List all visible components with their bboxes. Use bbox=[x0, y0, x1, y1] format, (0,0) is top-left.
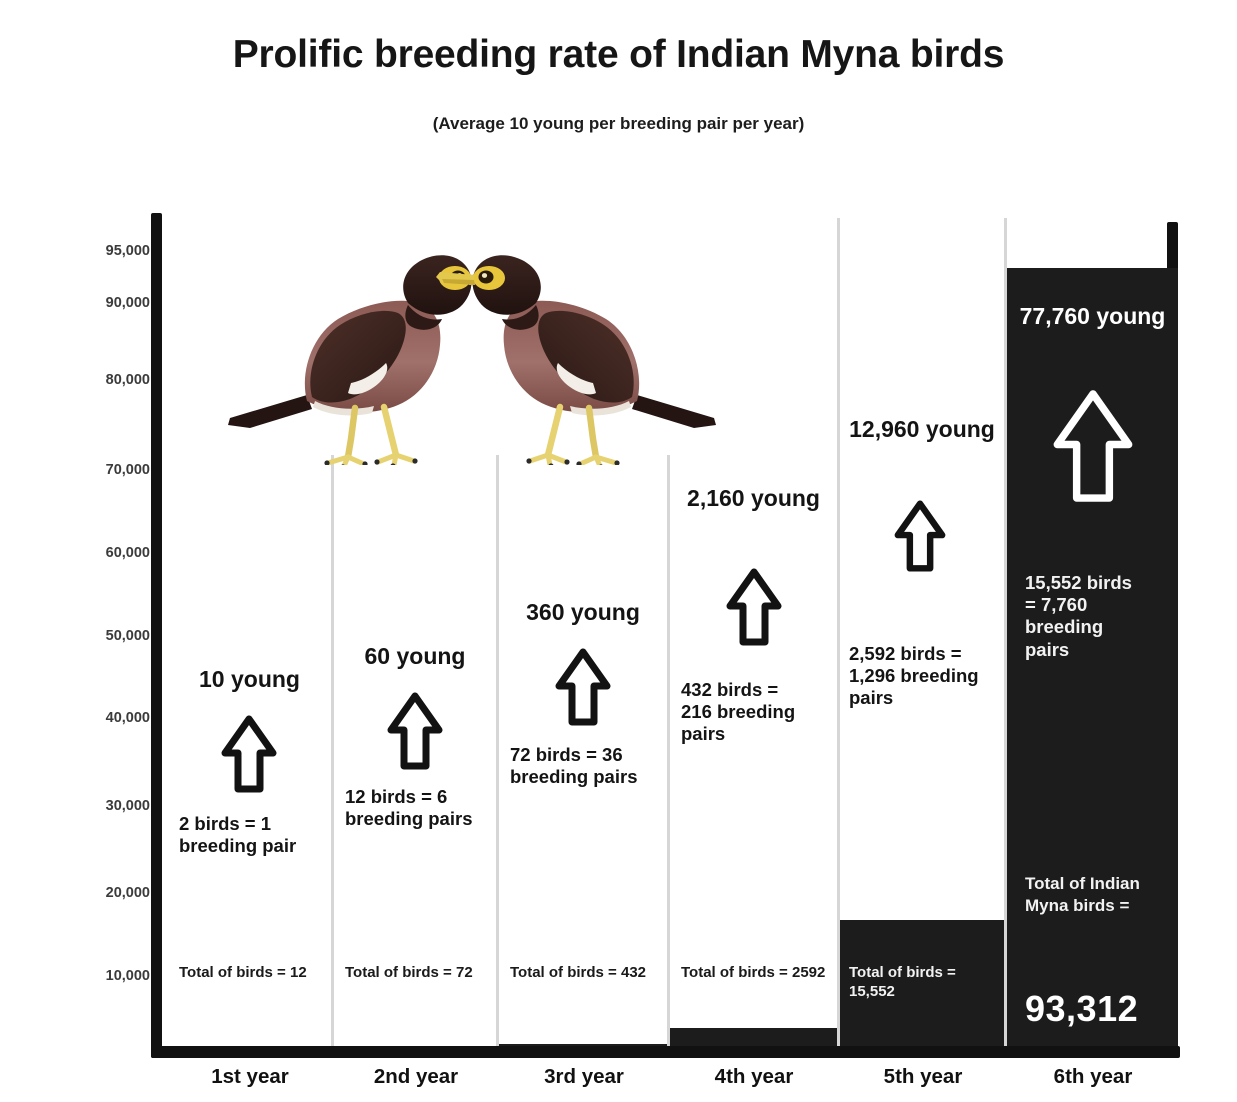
detail-year2: 12 birds = 6 breeding pairs bbox=[345, 786, 495, 830]
chart-title: Prolific breeding rate of Indian Myna bi… bbox=[0, 33, 1237, 77]
up-arrow-icon bbox=[1051, 388, 1135, 504]
total-year1: Total of birds = 12 bbox=[179, 964, 331, 983]
x-label-year6: 6th year bbox=[1006, 1065, 1180, 1089]
x-label-year2: 2nd year bbox=[334, 1065, 498, 1089]
detail-year1: 2 birds = 1 breeding pair bbox=[179, 813, 329, 857]
detail-year6: 15,552 birds = 7,760 breeding pairs bbox=[1025, 572, 1145, 661]
y-axis-tick-labels: 95,000 90,000 80,000 70,000 60,000 50,00… bbox=[58, 0, 150, 1102]
x-label-year1: 1st year bbox=[168, 1065, 332, 1089]
total-year5: Total of birds = 15,552 bbox=[849, 964, 1001, 1002]
y-tick-70000: 70,000 bbox=[68, 462, 150, 478]
up-arrow-icon bbox=[726, 568, 782, 646]
up-arrow-icon bbox=[894, 500, 946, 572]
indian-myna-bird-pair-illustration bbox=[212, 225, 732, 465]
y-tick-60000: 60,000 bbox=[68, 545, 150, 561]
total-year4: Total of birds = 2592 bbox=[681, 964, 833, 983]
infographic-chart: Prolific breeding rate of Indian Myna bi… bbox=[0, 0, 1237, 1102]
column-year5: 12,960 young 2,592 birds = 1,296 breedin… bbox=[840, 213, 1004, 1046]
young-label-year3: 360 young bbox=[499, 599, 667, 626]
y-tick-30000: 30,000 bbox=[68, 798, 150, 814]
y-tick-90000: 90,000 bbox=[68, 295, 150, 311]
column-year6: 77,760 young 15,552 birds = 7,760 breedi… bbox=[1007, 213, 1178, 1046]
x-axis-line bbox=[151, 1046, 1180, 1058]
young-label-year5: 12,960 young bbox=[840, 416, 1004, 443]
y-tick-10000: 10,000 bbox=[68, 968, 150, 984]
y-tick-95000: 95,000 bbox=[68, 243, 150, 259]
up-arrow-icon bbox=[555, 648, 611, 726]
x-label-year3: 3rd year bbox=[500, 1065, 668, 1089]
y-tick-50000: 50,000 bbox=[68, 628, 150, 644]
grand-total-value: 93,312 bbox=[1025, 988, 1185, 1030]
young-label-year2: 60 young bbox=[334, 643, 496, 670]
y-tick-40000: 40,000 bbox=[68, 710, 150, 726]
grand-total-label: Total of Indian Myna birds = bbox=[1025, 873, 1175, 917]
up-arrow-icon bbox=[387, 692, 443, 770]
y-tick-20000: 20,000 bbox=[68, 885, 150, 901]
young-label-year6: 77,760 young bbox=[1007, 303, 1178, 330]
total-year3: Total of birds = 432 bbox=[510, 964, 665, 983]
detail-year4: 432 birds = 216 breeding pairs bbox=[681, 679, 813, 746]
y-axis-line bbox=[151, 213, 162, 1058]
up-arrow-icon bbox=[221, 715, 277, 793]
y-tick-80000: 80,000 bbox=[68, 372, 150, 388]
plot-area: 10 young 2 birds = 1 breeding pair Total… bbox=[162, 213, 1180, 1046]
young-label-year4: 2,160 young bbox=[670, 485, 837, 512]
chart-subtitle: (Average 10 young per breeding pair per … bbox=[0, 114, 1237, 134]
x-label-year5: 5th year bbox=[840, 1065, 1006, 1089]
detail-year3: 72 birds = 36 breeding pairs bbox=[510, 744, 666, 788]
total-year2: Total of birds = 72 bbox=[345, 964, 497, 983]
young-label-year1: 10 young bbox=[168, 666, 331, 693]
x-label-year4: 4th year bbox=[670, 1065, 838, 1089]
detail-year5: 2,592 birds = 1,296 breeding pairs bbox=[849, 643, 1001, 710]
